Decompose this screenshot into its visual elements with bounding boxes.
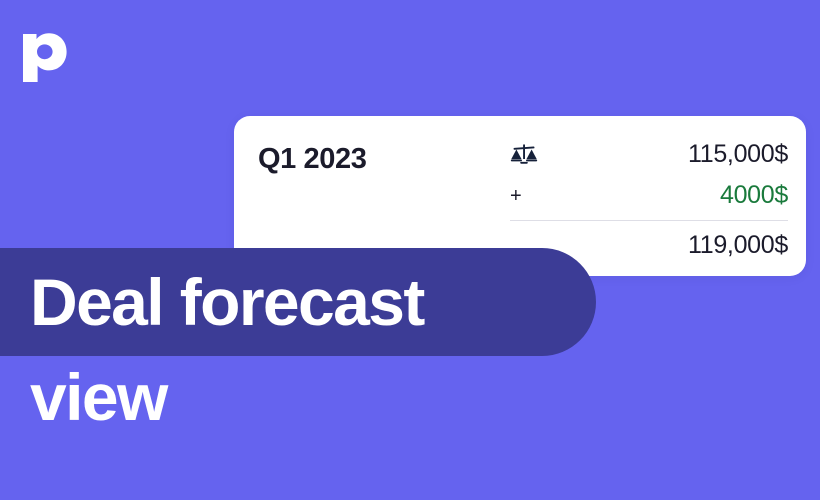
table-row: 115,000$ bbox=[488, 134, 788, 175]
letter-p-logo-icon bbox=[20, 28, 76, 84]
amount-value-base: 115,000$ bbox=[688, 140, 788, 169]
headline-line-2: view bbox=[30, 364, 167, 430]
balance-scale-icon bbox=[488, 143, 538, 167]
amount-divider bbox=[510, 220, 788, 221]
headline-line-1: Deal forecast bbox=[30, 269, 424, 335]
plus-sign-icon: + bbox=[488, 186, 522, 206]
plus-symbol: + bbox=[510, 186, 522, 206]
headline-banner: Deal forecast bbox=[0, 248, 596, 356]
slide-canvas: Q1 2023 115,000$ bbox=[0, 0, 820, 500]
table-row: + 4000$ bbox=[488, 175, 788, 216]
amount-value-total: 119,000$ bbox=[688, 231, 788, 260]
amount-value-adjustment: 4000$ bbox=[720, 181, 788, 210]
card-period-label: Q1 2023 bbox=[258, 143, 366, 176]
